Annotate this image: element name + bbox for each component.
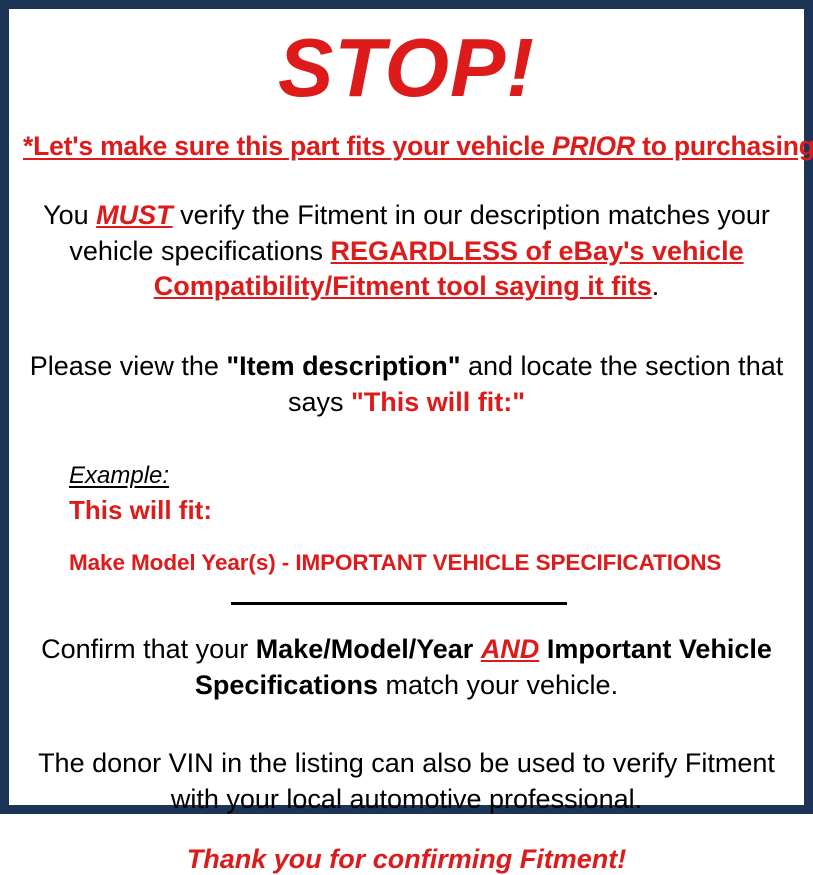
section-divider xyxy=(231,602,567,605)
confirm-seg3 xyxy=(539,634,547,664)
fitment-notice-card: STOP! *Let's make sure this part fits yo… xyxy=(0,0,813,814)
make-model-year-emphasis: Make/Model/Year xyxy=(256,634,474,664)
section-divider-wrap xyxy=(23,602,790,608)
thank-you-line: Thank you for confirming Fitment! xyxy=(23,844,790,875)
must-verify-paragraph: You MUST verify the Fitment in our descr… xyxy=(23,198,790,305)
view-paragraph-seg1: Please view the xyxy=(30,351,227,381)
fitment-subheadline: *Let's make sure this part fits your veh… xyxy=(23,131,790,162)
example-this-will-fit: This will fit: xyxy=(69,495,790,526)
must-paragraph-seg1: You xyxy=(43,200,96,230)
example-block: Example: This will fit: Make Model Year(… xyxy=(23,462,790,576)
subheadline-emphasis-prior: PRIOR xyxy=(552,131,635,161)
donor-vin-paragraph: The donor VIN in the listing can also be… xyxy=(23,746,790,817)
subheadline-text-after: to purchasing* xyxy=(635,131,813,161)
item-description-emphasis: "Item description" xyxy=(226,351,460,381)
must-emphasis: MUST xyxy=(96,200,173,230)
fitment-notice-body: STOP! *Let's make sure this part fits yo… xyxy=(9,9,804,805)
example-vehicle-spec-line: Make Model Year(s) - IMPORTANT VEHICLE S… xyxy=(69,550,790,576)
confirm-paragraph: Confirm that your Make/Model/Year AND Im… xyxy=(23,632,790,703)
subheadline-text-before: *Let's make sure this part fits your veh… xyxy=(23,131,552,161)
confirm-seg1: Confirm that your xyxy=(41,634,256,664)
confirm-seg2 xyxy=(473,634,481,664)
example-label: Example: xyxy=(69,462,169,490)
and-emphasis: AND xyxy=(481,634,540,664)
this-will-fit-emphasis: "This will fit:" xyxy=(351,387,525,417)
item-description-paragraph: Please view the "Item description" and l… xyxy=(23,349,790,420)
must-paragraph-seg3: . xyxy=(652,271,660,301)
confirm-seg4: match your vehicle. xyxy=(378,670,618,700)
stop-headline: STOP! xyxy=(23,26,790,109)
